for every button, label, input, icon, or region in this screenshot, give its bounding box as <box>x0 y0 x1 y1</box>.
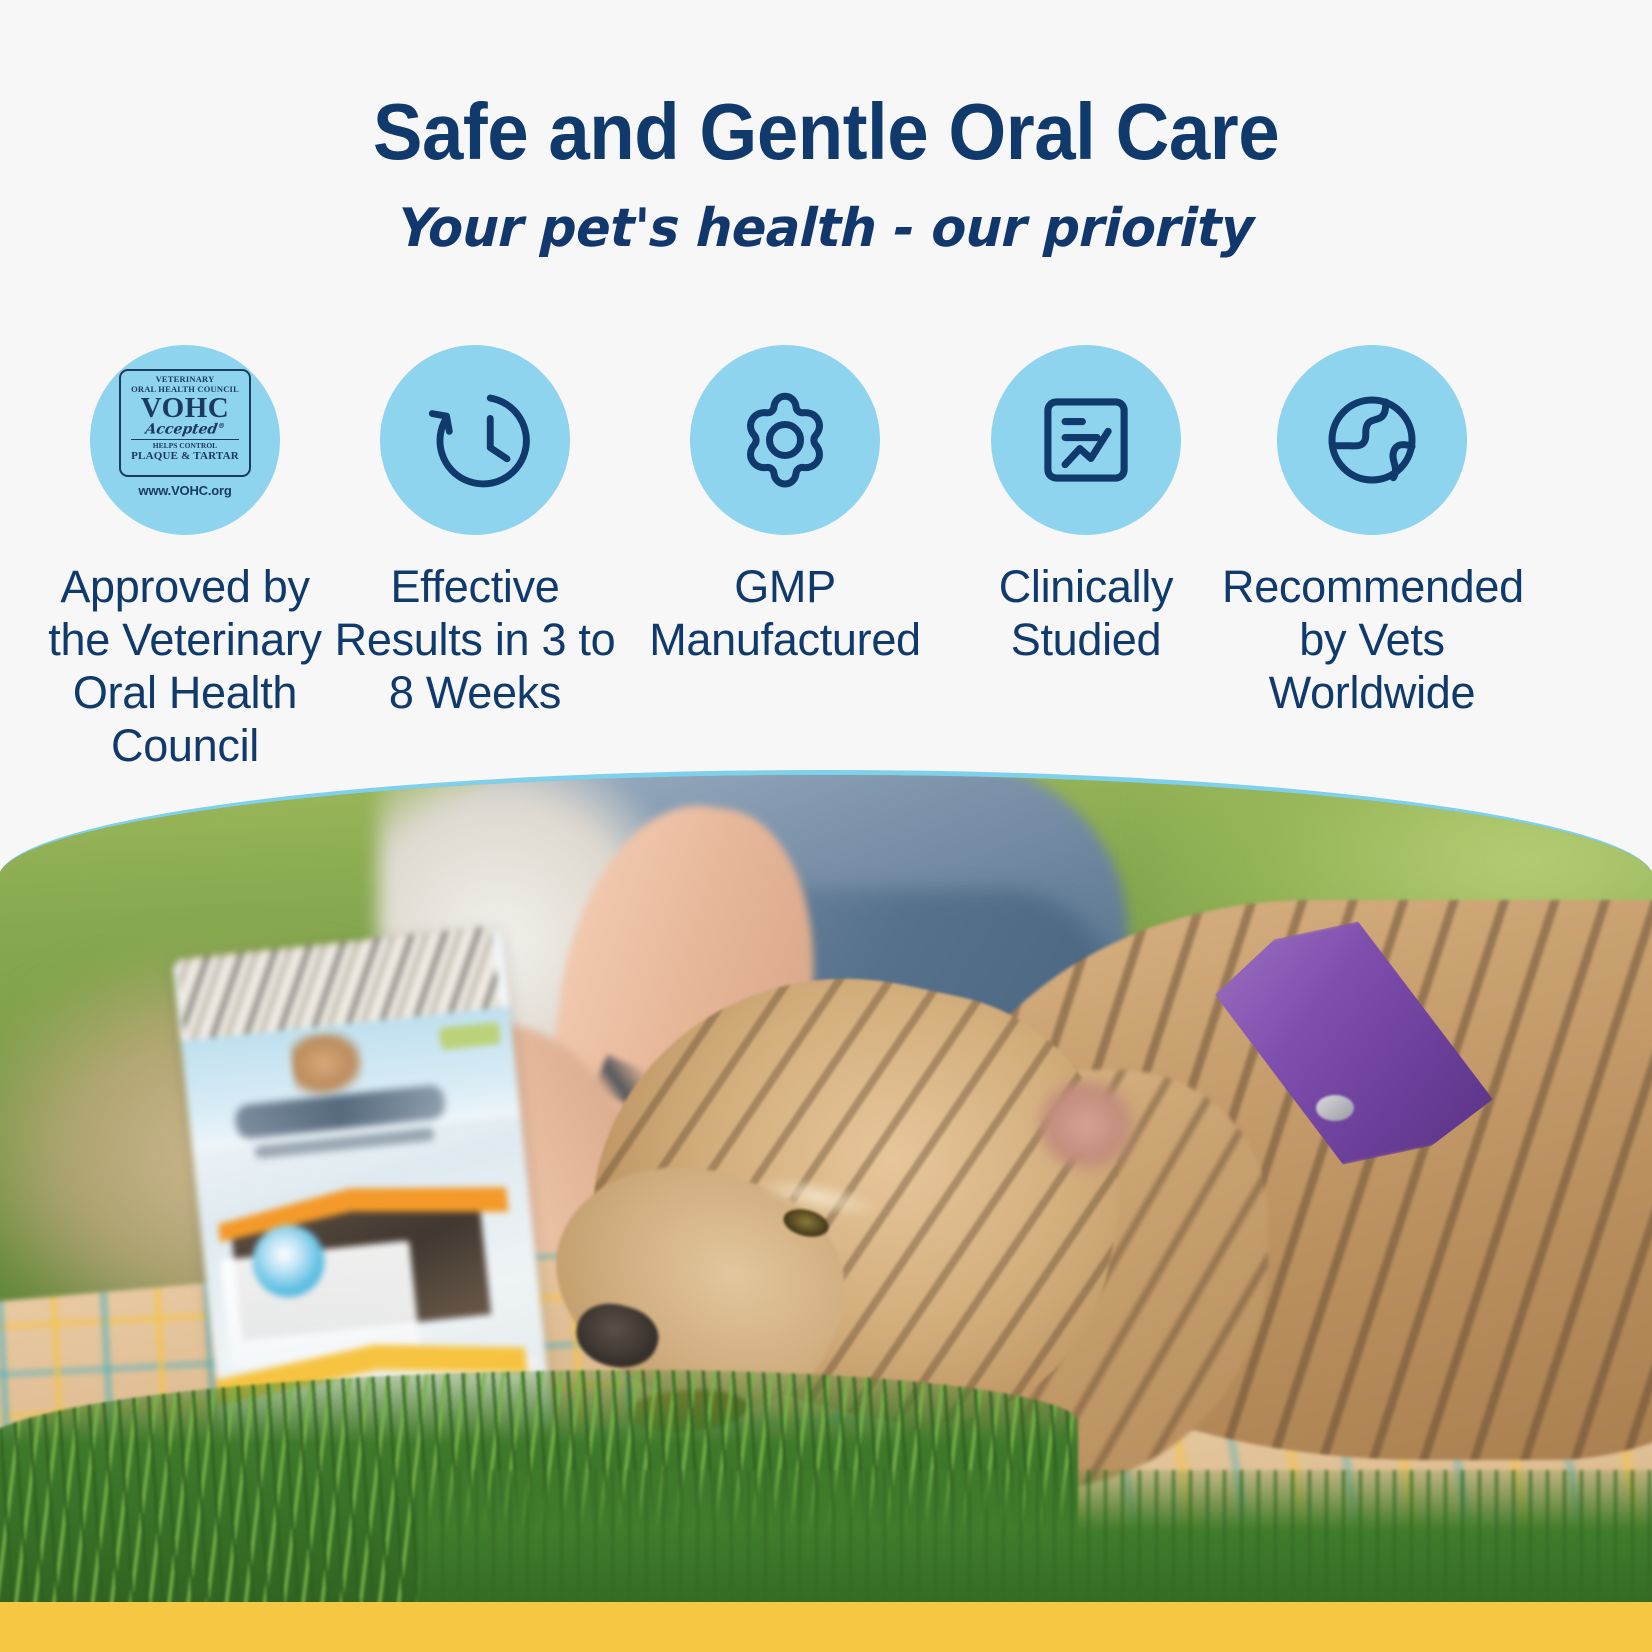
promo-graphic: Safe and Gentle Oral Care Your pet's hea… <box>0 0 1652 1652</box>
vohc-line-3: HELPS CONTROL <box>125 441 245 450</box>
icon-circle <box>991 345 1181 535</box>
hero-photo-clip <box>0 770 1652 1610</box>
feature-caption: GMP Manufactured <box>640 560 930 666</box>
globe-icon <box>1312 380 1432 500</box>
feature-caption: Clinically Studied <box>950 560 1222 666</box>
feature-item-gmp: GMP Manufactured <box>640 345 930 666</box>
icon-circle <box>1277 345 1467 535</box>
feature-item-recommended-by-vets: Recommended by Vets Worldwide <box>1222 345 1522 719</box>
feature-caption: Effective Results in 3 to 8 Weeks <box>330 560 620 719</box>
feature-caption: Approved by the Veterinary Oral Health C… <box>35 560 335 772</box>
photo-dog-ear-inner <box>1038 1080 1134 1170</box>
hero-photo <box>0 770 1652 1610</box>
hero-photo-image <box>0 770 1652 1610</box>
feature-list: VETERINARY ORAL HEALTH COUNCIL VOHC Acce… <box>0 345 1652 775</box>
feature-item-clinically-studied: Clinically Studied <box>950 345 1222 666</box>
page-subtitle: Your pet's health - our priority <box>32 198 1620 259</box>
feature-item-vohc: VETERINARY ORAL HEALTH COUNCIL VOHC Acce… <box>35 345 335 772</box>
vohc-divider <box>131 439 239 440</box>
vohc-accepted-seal-icon: VETERINARY ORAL HEALTH COUNCIL VOHC Acce… <box>119 369 251 511</box>
photo-grass-foreground-right <box>418 1470 1652 1610</box>
page-title: Safe and Gentle Oral Care <box>58 86 1594 178</box>
vohc-url: www.VOHC.org <box>119 483 251 498</box>
clock-history-icon <box>414 379 536 501</box>
feature-caption: Recommended by Vets Worldwide <box>1222 560 1522 719</box>
icon-circle: VETERINARY ORAL HEALTH COUNCIL VOHC Acce… <box>90 345 280 535</box>
vohc-line-4: PLAQUE & TARTAR <box>125 450 245 462</box>
bottom-accent-bar <box>0 1602 1652 1652</box>
chart-report-icon <box>1027 381 1145 499</box>
vohc-accepted-word: Accepted® <box>124 421 247 438</box>
photo-dog-collar-ring <box>1316 1095 1354 1121</box>
vohc-acronym: VOHC <box>125 395 245 422</box>
icon-circle <box>690 345 880 535</box>
feature-item-effective-results: Effective Results in 3 to 8 Weeks <box>330 345 620 719</box>
gear-icon <box>725 380 845 500</box>
icon-circle <box>380 345 570 535</box>
